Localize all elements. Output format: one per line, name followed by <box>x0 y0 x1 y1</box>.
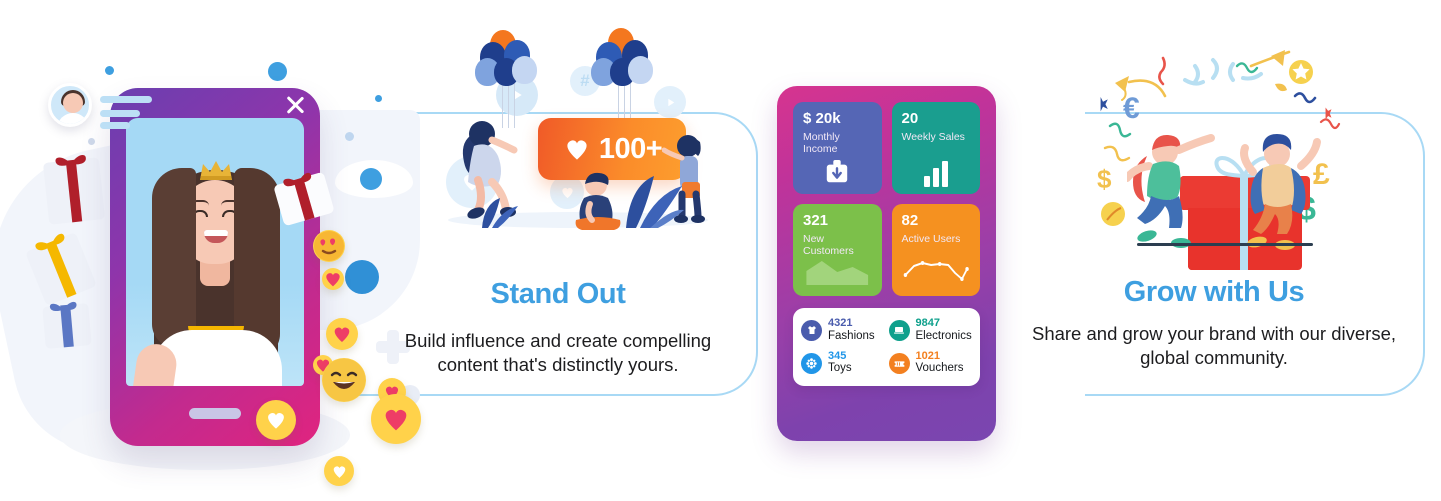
play-icon-bubble <box>654 86 686 118</box>
decor-dot <box>375 95 382 102</box>
category-label: Fashions <box>828 330 875 343</box>
home-indicator <box>189 408 241 419</box>
panel-copy-stand-out: Stand Out Build influence and create com… <box>384 278 732 378</box>
man-carrying-gift <box>1233 126 1343 254</box>
ticket-icon <box>889 353 910 374</box>
category-toys[interactable]: 345 Toys <box>801 351 885 376</box>
avatar <box>48 83 92 127</box>
category-label: Toys <box>828 362 852 375</box>
stat-label: Active Users <box>902 233 971 245</box>
balloon <box>628 56 653 84</box>
gift-delivery-illustration: € £ $ $ <box>1085 48 1365 263</box>
category-label: Electronics <box>916 330 972 343</box>
likes-celebration-illustration: # <box>418 20 728 250</box>
phone-mockup <box>110 88 320 446</box>
panel-body: Build influence and create compelling co… <box>384 329 732 378</box>
streamer-hair-left <box>152 168 196 348</box>
comment-line <box>100 110 140 117</box>
bar <box>933 168 939 187</box>
category-summary-card: 4321 Fashions 9847 Electronics 345 <box>793 308 980 386</box>
phone-screen <box>126 118 304 386</box>
stat-label: Monthly Income <box>803 131 872 155</box>
ground-line <box>1137 243 1313 246</box>
toy-icon <box>801 353 822 374</box>
eye-pupil <box>360 168 382 190</box>
gift-blue <box>42 303 91 349</box>
woman-carrying-gift <box>1127 126 1237 254</box>
decor-dot <box>345 132 354 141</box>
balloon <box>512 56 537 84</box>
decor-dot <box>88 138 95 145</box>
stat-label: New Customers <box>803 233 872 257</box>
stat-value: 321 <box>803 213 872 230</box>
analytics-phone-card: $ 20k Monthly Income 20 Weekly Sales <box>777 86 996 441</box>
heart-reaction-small <box>322 268 344 290</box>
stat-tile-weekly-sales[interactable]: 20 Weekly Sales <box>892 102 981 194</box>
heart-reaction-white <box>256 400 296 440</box>
decor-dot <box>345 260 379 294</box>
likes-count: 100+ <box>599 133 662 166</box>
gift-bow <box>48 298 83 317</box>
stat-tile-monthly-income[interactable]: $ 20k Monthly Income <box>793 102 882 194</box>
category-count: 345 <box>828 351 852 363</box>
live-stream-phone-illustration <box>0 0 430 501</box>
category-vouchers[interactable]: 1021 Vouchers <box>889 351 973 376</box>
heart-reaction <box>326 318 358 350</box>
avatar-body <box>57 113 89 127</box>
decor-dot <box>268 62 287 81</box>
heart-reaction-large <box>371 394 421 444</box>
category-electronics[interactable]: 9847 Electronics <box>889 318 973 343</box>
comment-line <box>100 96 152 103</box>
heart-icon <box>562 134 592 164</box>
stat-label: Weekly Sales <box>902 131 971 143</box>
close-icon[interactable] <box>284 94 306 116</box>
avatar-head <box>63 93 83 113</box>
comment-line <box>100 122 130 129</box>
laptop-icon <box>889 320 910 341</box>
stat-value: $ 20k <box>803 111 872 128</box>
download-badge-icon <box>803 153 872 187</box>
heart-eyes-reaction <box>313 230 345 262</box>
bar <box>942 161 948 187</box>
panel-heading: Stand Out <box>384 278 732 311</box>
heart-reaction-white <box>324 456 354 486</box>
category-fashions[interactable]: 4321 Fashions <box>801 318 885 343</box>
panel-copy-grow-with-us: Grow with Us Share and grow your brand w… <box>1012 276 1416 371</box>
line-chart-icon <box>902 255 971 289</box>
gift-red <box>43 157 105 225</box>
panel-heading: Grow with Us <box>1012 276 1416 309</box>
decor-dot <box>105 66 114 75</box>
hashtag-icon: # <box>580 71 589 91</box>
stat-value: 82 <box>902 213 971 230</box>
stat-tile-new-customers[interactable]: 321 New Customers <box>793 204 882 296</box>
smile-reaction <box>322 358 366 402</box>
svg-text:$: $ <box>1097 164 1112 194</box>
crown-icon <box>198 158 234 182</box>
area-chart-icon <box>803 255 872 289</box>
svg-text:€: € <box>1123 92 1140 125</box>
promo-banner: # <box>0 0 1441 501</box>
bar-chart-icon <box>902 153 971 187</box>
stat-tile-active-users[interactable]: 82 Active Users <box>892 204 981 296</box>
category-count: 9847 <box>916 318 972 330</box>
fashion-icon <box>801 320 822 341</box>
stat-value: 20 <box>902 111 971 128</box>
foliage-left <box>476 190 526 235</box>
category-count: 4321 <box>828 318 875 330</box>
foliage-right <box>616 162 686 235</box>
category-count: 1021 <box>916 351 964 363</box>
stat-tiles: $ 20k Monthly Income 20 Weekly Sales <box>793 102 980 296</box>
bar <box>924 176 930 187</box>
category-label: Vouchers <box>916 362 964 375</box>
panel-body: Share and grow your brand with our diver… <box>1012 322 1416 371</box>
streamer-teeth <box>204 230 228 236</box>
